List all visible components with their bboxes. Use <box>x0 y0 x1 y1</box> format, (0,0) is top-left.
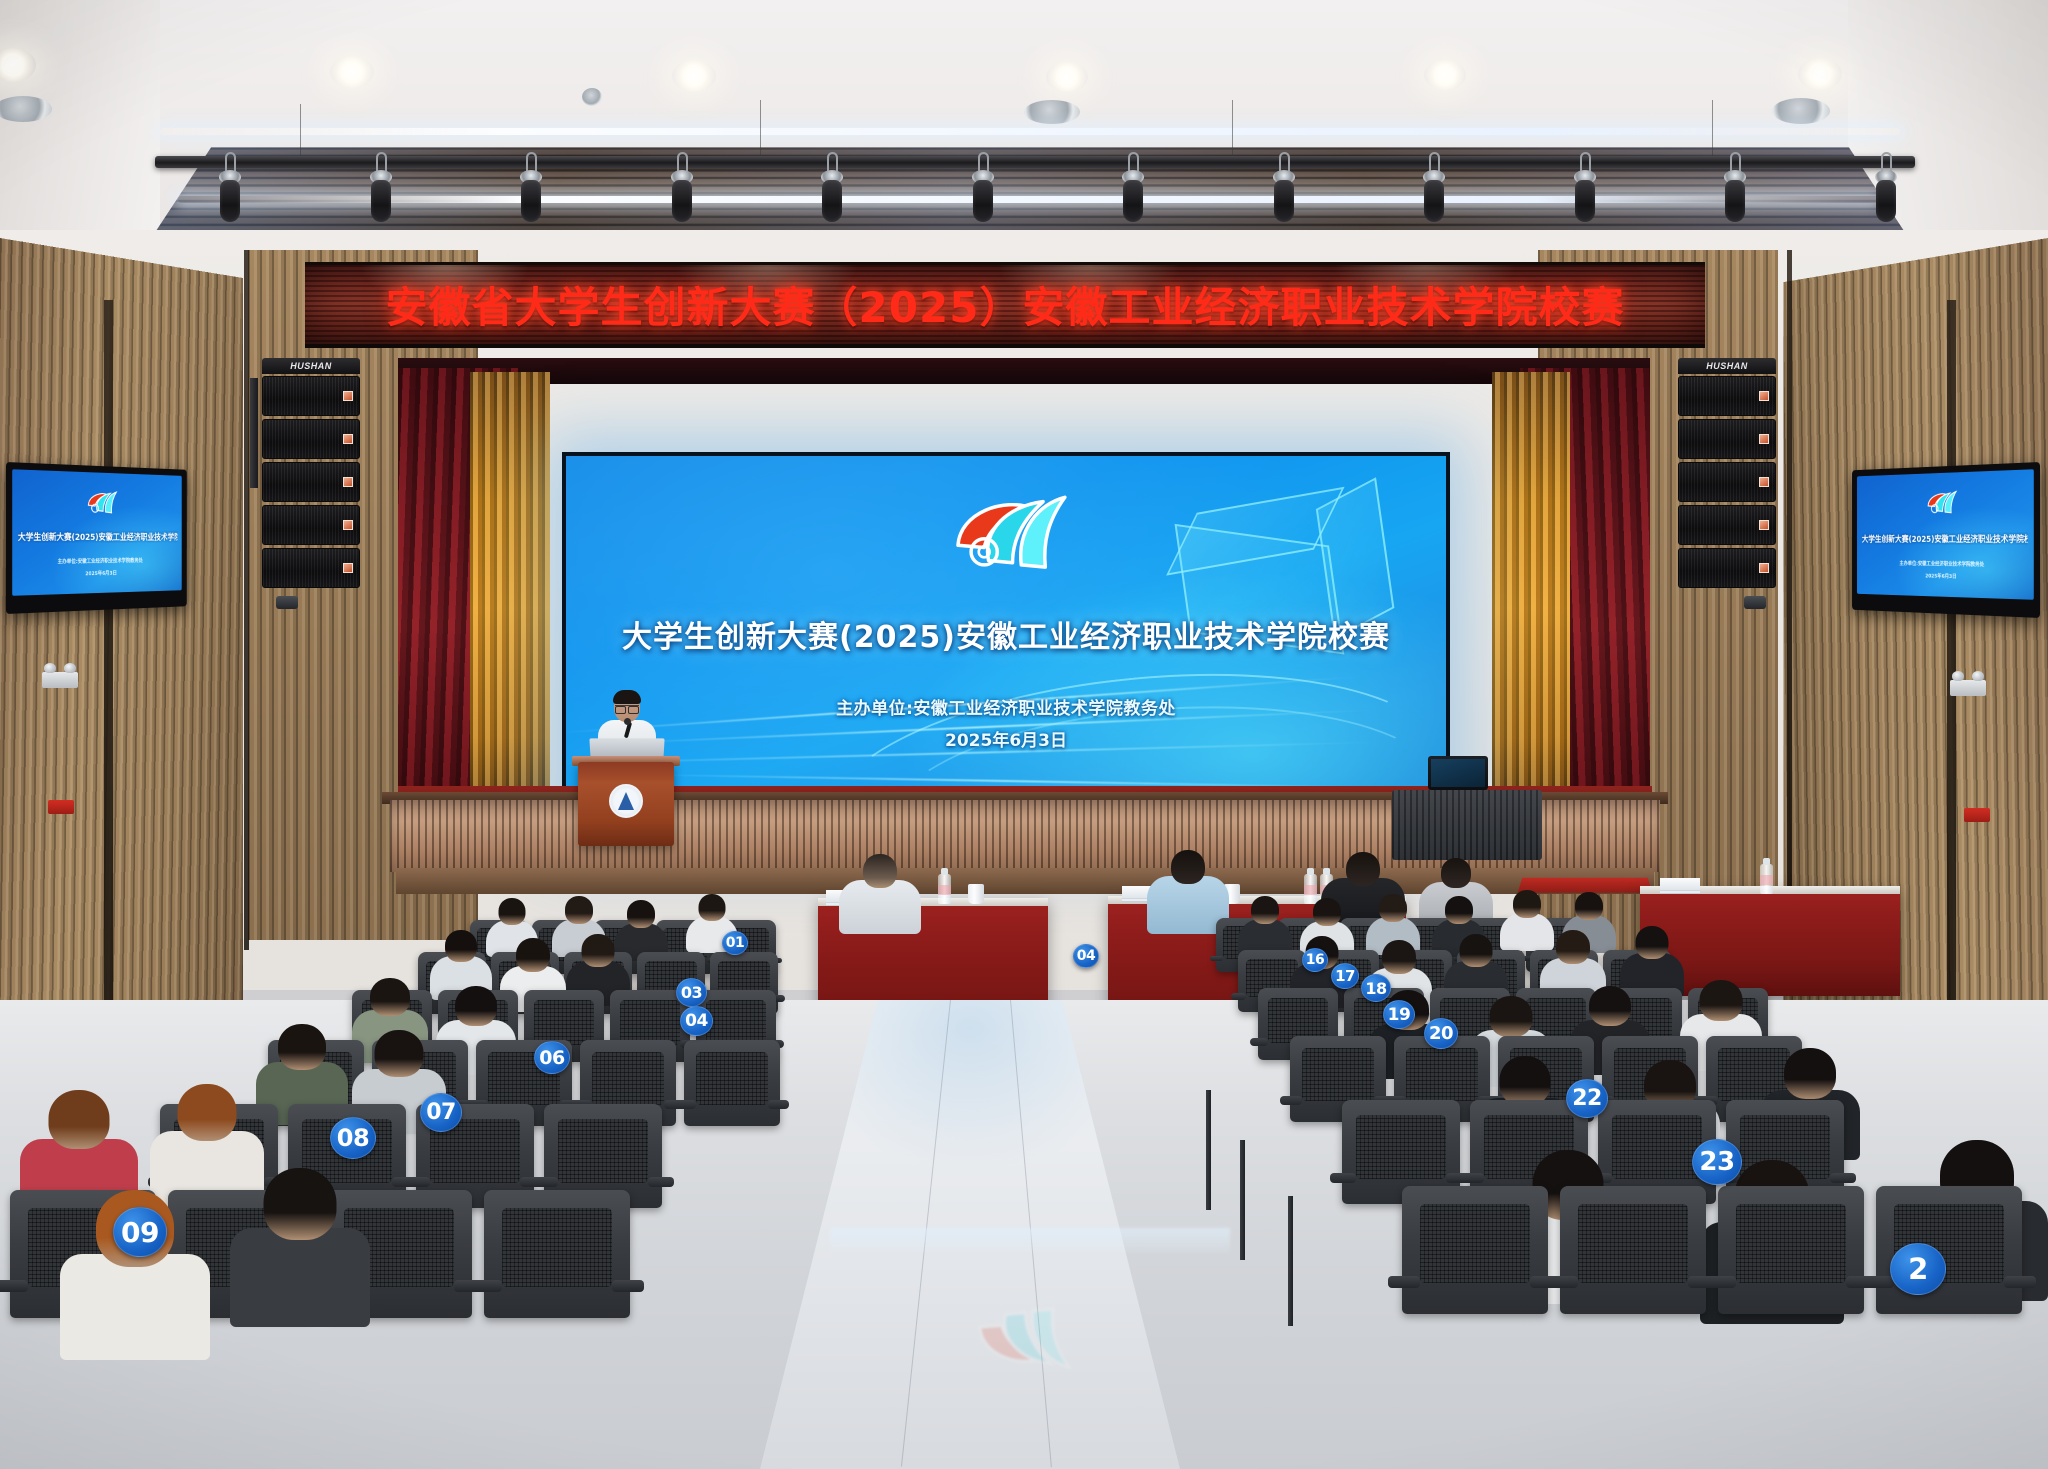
judge-head <box>1346 852 1380 886</box>
wall-camera-right <box>1744 596 1766 609</box>
person-head <box>1313 898 1341 926</box>
ceiling-downlight <box>1046 62 1088 92</box>
side-tv-left-title: 大学生创新大赛(2025)安徽工业经济职业技术学院校赛 <box>18 530 177 543</box>
seat-number-badge[interactable]: 07 <box>420 1093 462 1132</box>
chair-armrest <box>674 1100 695 1109</box>
speaker-podium <box>578 762 674 846</box>
side-tv-right-panel: 大学生创新大赛(2025)安徽工业经济职业技术学院校赛 主办单位:安徽工业经济职… <box>1857 469 2034 600</box>
lighting-truss <box>155 156 1915 168</box>
speaker-module <box>1678 462 1776 502</box>
presenter-hair <box>613 690 641 704</box>
person-head <box>699 894 726 921</box>
curtain-valance <box>398 358 1650 384</box>
audience-chair[interactable] <box>1402 1186 1548 1314</box>
chair-armrest <box>648 1177 674 1187</box>
truss-wire <box>1712 100 1713 158</box>
audience-person <box>1620 926 1684 994</box>
ceiling-downlight <box>672 60 716 92</box>
chair-armrest <box>768 1100 789 1109</box>
audience-chair[interactable] <box>1718 1186 1864 1314</box>
audience-chair[interactable] <box>684 1040 780 1126</box>
speaker-led-indicator <box>1759 434 1769 444</box>
chair-armrest <box>1388 1276 1420 1289</box>
person-head <box>516 938 550 972</box>
chair-armrest <box>404 1177 430 1187</box>
seat-number-badge[interactable]: 08 <box>330 1117 376 1159</box>
person-head <box>1636 926 1669 959</box>
chair-armrest <box>1330 1173 1356 1183</box>
speaker-array-left: HUSHAN <box>262 358 360 591</box>
chair-armrest <box>1704 1276 1736 1289</box>
seat-number-badge[interactable]: 2 <box>1890 1243 1946 1295</box>
person-head <box>1784 1048 1836 1099</box>
water-bottle <box>938 874 951 904</box>
school-crest-emblem-icon <box>609 784 643 818</box>
person-head <box>1513 890 1541 918</box>
speaker-led-indicator <box>343 520 353 530</box>
person-head <box>278 1024 326 1070</box>
stage-light <box>668 162 696 224</box>
speaker-top-cap: HUSHAN <box>262 358 360 374</box>
person-head <box>627 900 655 928</box>
ceiling-downlight <box>330 56 374 88</box>
person-head <box>375 1030 424 1077</box>
person-head <box>178 1084 237 1141</box>
chair-leg <box>1288 1196 1293 1326</box>
fire-extinguisher-sign <box>48 800 74 814</box>
main-screen-title: 大学生创新大赛(2025)安徽工业经济职业技术学院校赛 <box>566 612 1446 656</box>
chair-armrest <box>470 1280 502 1293</box>
speaker-module <box>262 419 360 459</box>
seat-number-badge[interactable]: 04 <box>1073 944 1099 968</box>
wave-swirl-logo-icon <box>83 484 120 517</box>
seat-number-badge[interactable]: 01 <box>722 931 748 955</box>
paper-cup <box>968 884 984 904</box>
speaker-mount-bracket <box>250 378 258 488</box>
stage-light <box>969 162 997 224</box>
chair-armrest <box>1231 993 1246 999</box>
stage-light <box>1571 162 1599 224</box>
ceiling-downlight-ring <box>1024 100 1080 124</box>
ceiling-downlight <box>1424 60 1466 90</box>
stage-light <box>1270 162 1298 224</box>
ceiling-downlight-ring <box>582 88 602 106</box>
person-head <box>455 986 497 1026</box>
seat-number-badge[interactable]: 04 <box>680 1006 713 1036</box>
control-console <box>1392 790 1542 860</box>
person-head <box>499 898 526 925</box>
person-head <box>1460 934 1493 967</box>
person-head <box>445 930 477 962</box>
wall-seam <box>1947 300 1956 1000</box>
chair-armrest <box>612 1280 644 1293</box>
wall-camera-left <box>276 596 298 609</box>
speaker-led-indicator <box>343 391 353 401</box>
screen-reflection-logo <box>960 1300 1080 1380</box>
chair-armrest <box>1546 1276 1578 1289</box>
fire-extinguisher-sign <box>1964 808 1990 822</box>
speaker-module <box>1678 505 1776 545</box>
stage-light <box>818 162 846 224</box>
truss-wire <box>1232 100 1233 158</box>
stage-light <box>517 162 545 224</box>
banner-title-text: 安徽省大学生创新大赛（2025）安徽工业经济职业技术学院校赛 <box>386 274 1625 335</box>
stage-light <box>1721 162 1749 224</box>
audience-person <box>230 1168 370 1318</box>
speaker-led-indicator <box>1759 520 1769 530</box>
person-head <box>582 934 615 967</box>
seat-number-badge[interactable]: 18 <box>1361 974 1391 1002</box>
side-tv-left-subtitle: 主办单位:安徽工业经济职业技术学院教务处 <box>18 556 177 566</box>
main-led-screen: 大学生创新大赛(2025)安徽工业经济职业技术学院校赛 主办单位:安徽工业经济职… <box>562 452 1450 842</box>
ceiling-light-strip <box>178 196 1878 203</box>
chair-armrest <box>1862 1276 1894 1289</box>
person-head <box>1589 986 1631 1026</box>
speaker-led-indicator <box>1759 563 1769 573</box>
person-head <box>1445 896 1473 924</box>
stage-light <box>1119 162 1147 224</box>
person-head <box>1556 930 1590 964</box>
ceiling-light-strip <box>160 128 1900 135</box>
truss-wire <box>760 100 761 158</box>
person-torso <box>230 1228 370 1327</box>
person-head <box>1575 892 1603 920</box>
seat-number-badge[interactable]: 09 <box>113 1207 167 1257</box>
stage-light <box>216 162 244 224</box>
chair-leg <box>1206 1090 1211 1210</box>
seat-number-badge[interactable]: 19 <box>1383 1000 1415 1029</box>
speaker-module <box>1678 548 1776 588</box>
side-tv-left-date: 2025年6月3日 <box>18 567 177 578</box>
speaker-module <box>262 376 360 416</box>
ceiling-downlight-ring <box>1772 98 1830 124</box>
chair-armrest <box>1280 1096 1301 1105</box>
side-tv-right: 大学生创新大赛(2025)安徽工业经济职业技术学院校赛 主办单位:安徽工业经济职… <box>1852 462 2040 618</box>
judge-figure <box>838 854 922 928</box>
audience-chair[interactable] <box>1560 1186 1706 1314</box>
speaker-module <box>1678 419 1776 459</box>
judge-body <box>839 880 921 934</box>
speaker-module <box>262 548 360 588</box>
speaker-brand-label: HUSHAN <box>1706 361 1748 371</box>
chair-leg <box>1240 1140 1245 1260</box>
chair-armrest <box>0 1280 28 1293</box>
person-head <box>1700 980 1743 1021</box>
wall-panel-left <box>0 238 243 1048</box>
wave-swirl-logo-icon <box>940 482 1072 578</box>
seat-number-badge[interactable]: 06 <box>534 1041 570 1074</box>
emergency-light-right <box>1950 680 1986 696</box>
curtain-gold-left <box>470 372 550 802</box>
speaker-led-indicator <box>1759 477 1769 487</box>
stage-monitor <box>1428 756 1488 790</box>
side-tv-left-panel: 大学生创新大赛(2025)安徽工业经济职业技术学院校赛 主办单位:安徽工业经济职… <box>12 469 182 596</box>
main-led-screen-content: 大学生创新大赛(2025)安徽工业经济职业技术学院校赛 主办单位:安徽工业经济职… <box>566 456 1446 838</box>
person-head <box>1382 940 1416 974</box>
water-bottle <box>1760 864 1773 894</box>
wall-seam <box>244 250 249 950</box>
decorative-cube-graphic <box>1161 469 1417 699</box>
seat-number-badge[interactable]: 16 <box>1302 948 1328 972</box>
wave-swirl-logo-icon <box>1923 485 1960 518</box>
judge-head <box>1441 858 1471 888</box>
seat-number-badge[interactable]: 20 <box>1424 1018 1458 1049</box>
speaker-led-indicator <box>1759 391 1769 401</box>
person-head <box>49 1090 110 1149</box>
wall-seam <box>1787 250 1792 950</box>
side-tv-left: 大学生创新大赛(2025)安徽工业经济职业技术学院校赛 主办单位:安徽工业经济职… <box>6 462 187 614</box>
speaker-module <box>262 505 360 545</box>
person-head <box>1500 1056 1551 1106</box>
side-tv-right-subtitle: 主办单位:安徽工业经济职业技术学院教务处 <box>1862 559 2028 569</box>
audience-person <box>1238 896 1292 954</box>
speaker-led-indicator <box>343 434 353 444</box>
person-head <box>565 896 593 924</box>
speaker-led-indicator <box>343 563 353 573</box>
microphone-head-icon <box>624 718 631 725</box>
seat-number-badge[interactable]: 03 <box>676 978 707 1007</box>
person-head <box>264 1168 337 1240</box>
speaker-top-cap: HUSHAN <box>1678 358 1776 374</box>
side-tv-right-date: 2025年6月3日 <box>1862 570 2028 581</box>
ceiling-edge-left <box>0 0 160 250</box>
auditorium-scene: 安徽省大学生创新大赛（2025）安徽工业经济职业技术学院校赛 HUSHAN HU… <box>0 0 2048 1469</box>
person-head <box>1251 896 1279 924</box>
speaker-led-indicator <box>343 477 353 487</box>
emergency-light-left <box>42 672 78 688</box>
judge-head <box>863 854 897 888</box>
chair-armrest <box>2004 1276 2036 1289</box>
speaker-module <box>1678 376 1776 416</box>
judge-head <box>1171 850 1205 884</box>
curtain-gold-right <box>1492 372 1570 802</box>
seat-number-badge[interactable]: 17 <box>1331 963 1359 989</box>
glasses-icon <box>615 705 639 711</box>
seat-number-badge[interactable]: 23 <box>1692 1139 1742 1185</box>
speaker-array-right: HUSHAN <box>1678 358 1776 591</box>
speaker-module <box>262 462 360 502</box>
chair-armrest <box>1210 956 1223 961</box>
screen-reflection-band <box>830 1228 1230 1254</box>
audience-chair[interactable] <box>484 1190 630 1318</box>
event-banner: 安徽省大学生创新大赛（2025）安徽工业经济职业技术学院校赛 <box>305 262 1705 348</box>
chair-armrest <box>532 1177 558 1187</box>
main-screen-date: 2025年6月3日 <box>566 726 1446 751</box>
speaker-brand-label: HUSHAN <box>290 361 332 371</box>
judge-figure <box>1146 850 1230 928</box>
person-head <box>1379 894 1407 922</box>
chair-armrest <box>1250 1038 1268 1045</box>
seat-number-badge[interactable]: 22 <box>1566 1079 1608 1118</box>
main-screen-subtitle: 主办单位:安徽工业经济职业技术学院教务处 <box>566 694 1446 719</box>
person-head <box>370 978 410 1016</box>
chair-armrest <box>1458 1173 1484 1183</box>
stage-light <box>1420 162 1448 224</box>
person-torso <box>60 1254 210 1360</box>
stage-light <box>367 162 395 224</box>
truss-wire <box>300 104 301 158</box>
paper-stack <box>1660 878 1700 890</box>
side-tv-right-title: 大学生创新大赛(2025)安徽工业经济职业技术学院校赛 <box>1862 532 2028 545</box>
person-head <box>1490 996 1533 1037</box>
ceiling-downlight <box>1798 58 1842 90</box>
stage-light <box>1872 162 1900 224</box>
wall-seam <box>104 300 113 1000</box>
